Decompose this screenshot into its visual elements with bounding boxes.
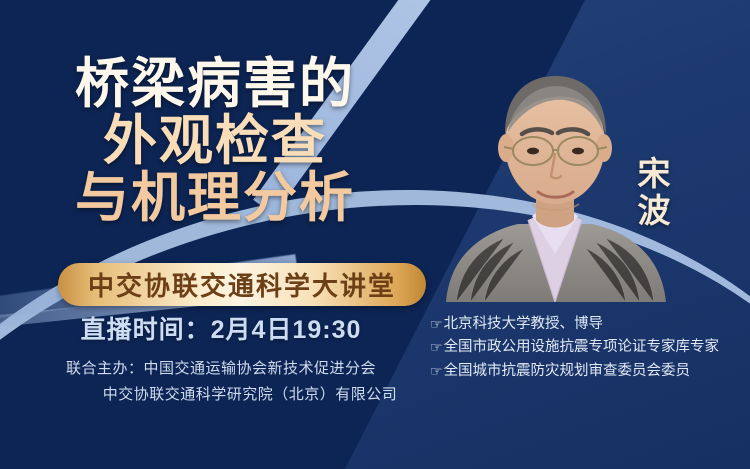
series-banner-label: 中交协联交通科学大讲堂 bbox=[88, 266, 396, 303]
speaker-name-char-1: 宋 bbox=[632, 156, 676, 193]
organizers: 联合主办：中国交通运输协会新技术促进分会 中交协联交通科学研究院（北京）有限公司 bbox=[0, 356, 442, 409]
credential-text: 北京科技大学教授、博导 bbox=[444, 313, 604, 336]
speaker-name: 宋 波 bbox=[632, 156, 676, 230]
title-line-1: 桥梁病害的 bbox=[0, 58, 430, 111]
series-banner: 中交协联交通科学大讲堂 bbox=[58, 263, 426, 306]
organizer-line-2: 中交协联交通科学研究院（北京）有限公司 bbox=[0, 382, 442, 408]
credential-item: ☞ 全国市政公用设施抗震专项论证专家库专家 bbox=[430, 336, 746, 359]
pointing-hand-icon: ☞ bbox=[430, 313, 443, 336]
title-line-2: 外观检查 bbox=[0, 115, 430, 168]
speaker-credentials: ☞ 北京科技大学教授、博导 ☞ 全国市政公用设施抗震专项论证专家库专家 ☞ 全国… bbox=[430, 313, 746, 383]
broadcast-time: 直播时间：2月4日19:30 bbox=[0, 310, 442, 346]
title-line-3: 与机理分析 bbox=[0, 172, 430, 225]
credential-item: ☞ 全国城市抗震防灾规划审查委员会委员 bbox=[430, 360, 746, 383]
speaker-name-char-2: 波 bbox=[632, 193, 676, 230]
credential-item: ☞ 北京科技大学教授、博导 bbox=[430, 313, 746, 336]
pointing-hand-icon: ☞ bbox=[430, 360, 443, 383]
pointing-hand-icon: ☞ bbox=[430, 336, 443, 359]
credential-text: 全国市政公用设施抗震专项论证专家库专家 bbox=[444, 336, 720, 359]
organizer-line-1: 联合主办：中国交通运输协会新技术促进分会 bbox=[0, 356, 442, 382]
webinar-poster: 桥梁病害的 外观检查 与机理分析 中交协联交通科学大讲堂 直播时间：2月4日19… bbox=[0, 0, 750, 469]
credential-text: 全国城市抗震防灾规划审查委员会委员 bbox=[444, 360, 691, 383]
poster-title: 桥梁病害的 外观检查 与机理分析 bbox=[0, 58, 430, 225]
